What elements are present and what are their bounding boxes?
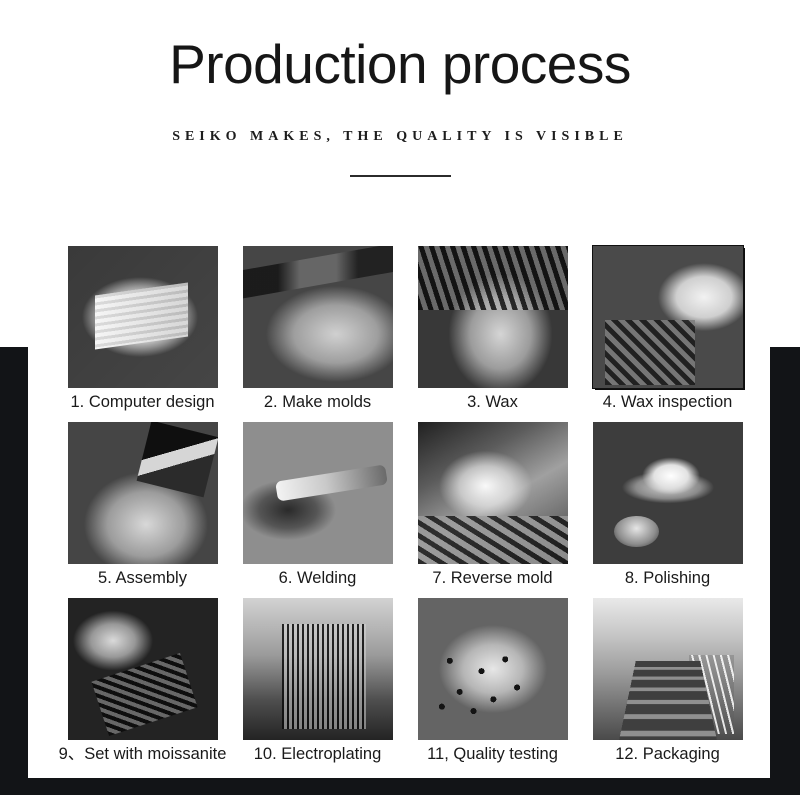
packaging-photo (593, 598, 743, 740)
reverse-mold-photo (418, 422, 568, 564)
process-step-7: 7. Reverse mold (405, 422, 580, 598)
process-step-1: 1. Computer design (55, 246, 230, 422)
assembly-photo (68, 422, 218, 564)
step-caption-8: 8. Polishing (625, 569, 710, 588)
step-caption-5: 5. Assembly (98, 569, 187, 588)
step-caption-10: 10. Electroplating (254, 745, 382, 764)
process-step-3: 3. Wax (405, 246, 580, 422)
process-step-4: 4. Wax inspection (580, 246, 755, 422)
step-caption-4: 4. Wax inspection (603, 393, 733, 412)
step-caption-12: 12. Packaging (615, 745, 720, 764)
process-step-5: 5. Assembly (55, 422, 230, 598)
divider-wrap (0, 145, 800, 182)
polishing-photo (593, 422, 743, 564)
step-caption-6: 6. Welding (279, 569, 357, 588)
wax-inspection-photo (593, 246, 743, 388)
step-caption-9: 9、Set with moissanite (59, 745, 227, 764)
process-step-2: 2. Make molds (230, 246, 405, 422)
page-title: Production process (0, 0, 800, 94)
page-subtitle: SEIKO MAKES, THE QUALITY IS VISIBLE (0, 94, 800, 145)
page-root: Production process SEIKO MAKES, THE QUAL… (0, 0, 800, 795)
step-caption-3: 3. Wax (467, 393, 518, 412)
set-with-moissanite-photo (68, 598, 218, 740)
welding-photo (243, 422, 393, 564)
wax-photo (418, 246, 568, 388)
header: Production process SEIKO MAKES, THE QUAL… (0, 0, 800, 182)
make-molds-photo (243, 246, 393, 388)
process-step-12: 12. Packaging (580, 598, 755, 774)
process-step-8: 8. Polishing (580, 422, 755, 598)
step-caption-7: 7. Reverse mold (432, 569, 552, 588)
computer-design-photo (68, 246, 218, 388)
process-step-6: 6. Welding (230, 422, 405, 598)
step-caption-1: 1. Computer design (71, 393, 215, 412)
divider-rule (350, 175, 451, 177)
electroplating-photo (243, 598, 393, 740)
process-grid: 1. Computer design 2. Make molds 3. Wax … (55, 246, 755, 774)
process-step-10: 10. Electroplating (230, 598, 405, 774)
step-caption-2: 2. Make molds (264, 393, 371, 412)
process-step-9: 9、Set with moissanite (55, 598, 230, 774)
process-step-11: 11, Quality testing (405, 598, 580, 774)
quality-testing-photo (418, 598, 568, 740)
step-caption-11: 11, Quality testing (427, 745, 558, 764)
